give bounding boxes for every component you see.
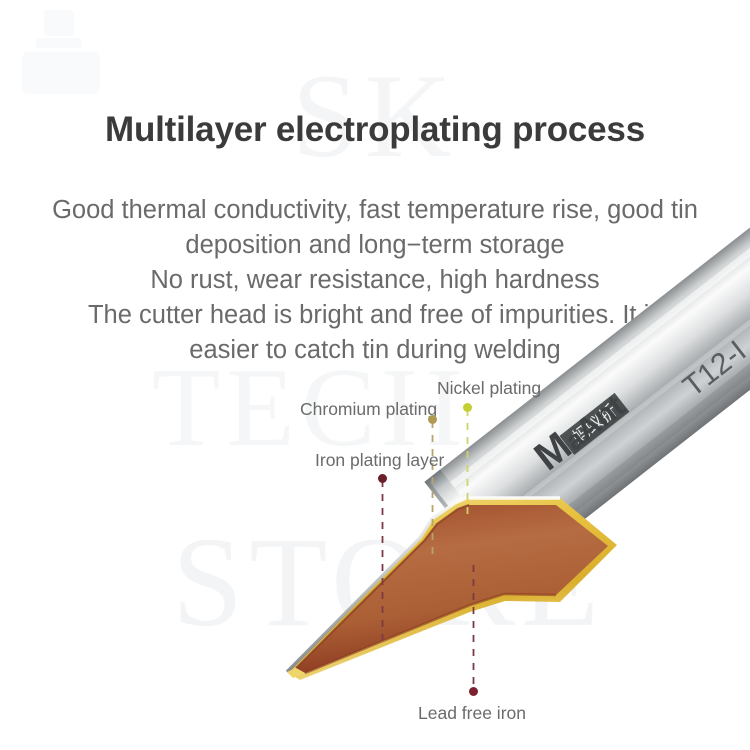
callout-label-lead-free-iron: Lead free iron <box>418 703 526 724</box>
callout-label-chromium-plating: Chromium plating <box>300 399 437 420</box>
callout-dot-nickel-plating <box>463 403 472 412</box>
callout-label-nickel-plating: Nickel plating <box>437 378 541 399</box>
watermark-logo-icon <box>18 8 104 100</box>
engraving-brand: MaAnt <box>526 383 632 479</box>
product-feature-image: SK TECH STORE Multilayer electroplating … <box>0 0 750 750</box>
callout-label-iron-plating-layer: Iron plating layer <box>315 450 444 471</box>
feature-line-4: The cutter head is bright and free of im… <box>14 298 736 333</box>
feature-description: Good thermal conductivity, fast temperat… <box>14 193 736 368</box>
engraving-brand-cn: 蚂蚁折 <box>569 401 622 448</box>
plated-tip-cross-section <box>287 498 617 680</box>
callout-dot-lead-free-iron <box>469 687 478 696</box>
feature-line-1: Good thermal conductivity, fast temperat… <box>14 193 736 228</box>
feature-line-3: No rust, wear resistance, high hardness <box>14 263 736 298</box>
feature-line-2: deposition and long−term storage <box>14 228 736 263</box>
page-title: Multilayer electroplating process <box>0 108 750 152</box>
callout-dot-chromium-plating <box>428 415 437 424</box>
watermark-bottom: STORE <box>172 518 605 646</box>
feature-line-5: easier to catch tin during welding <box>14 333 736 368</box>
callout-dot-iron-plating-layer <box>378 474 387 483</box>
